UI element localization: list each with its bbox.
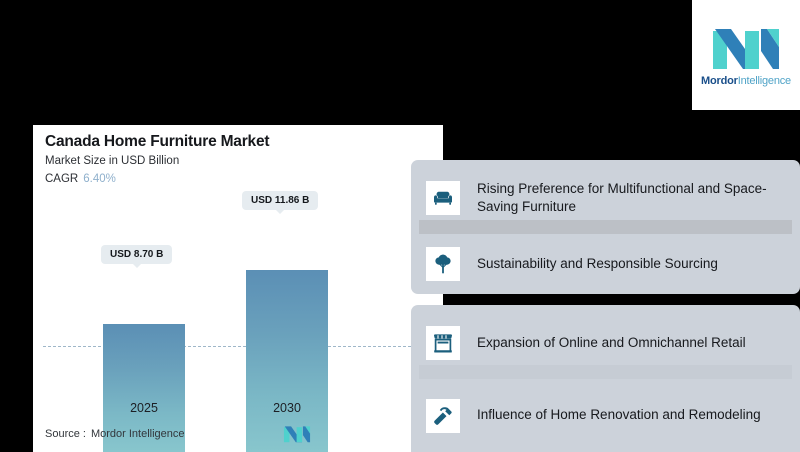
hammer-icon: [426, 399, 460, 433]
value-label-2030: USD 11.86 B: [242, 191, 318, 210]
driver-item-label: Sustainability and Responsible Sourcing: [477, 255, 718, 273]
driver-group-1: Rising Preference for Multifunctional an…: [411, 160, 800, 294]
brand-logo: MordorIntelligence: [692, 0, 800, 110]
driver-item-label: Expansion of Online and Omnichannel Reta…: [477, 334, 746, 352]
brand-wordmark: MordorIntelligence: [701, 76, 791, 87]
market-drivers-panel: Rising Preference for Multifunctional an…: [411, 160, 800, 452]
cagr-value: 6.40%: [83, 173, 116, 185]
driver-item-home-renovation[interactable]: Influence of Home Renovation and Remodel…: [411, 379, 800, 452]
driver-group-2: Expansion of Online and Omnichannel Reta…: [411, 305, 800, 452]
driver-item-label: Influence of Home Renovation and Remodel…: [477, 406, 761, 424]
source-mordor-m-logo-icon: [283, 424, 311, 443]
source-label: Source :: [45, 428, 86, 440]
brand-wordmark-light: Intelligence: [738, 75, 791, 87]
cagr-label: CAGR: [45, 173, 78, 185]
brand-wordmark-bold: Mordor: [701, 75, 738, 87]
driver-item-online-omnichannel-retail[interactable]: Expansion of Online and Omnichannel Reta…: [411, 307, 800, 379]
driver-item-multifunctional-furniture[interactable]: Rising Preference for Multifunctional an…: [411, 162, 800, 234]
reference-dashed-line: [43, 346, 431, 347]
source-name: Mordor Intelligence: [91, 428, 185, 440]
value-label-2025: USD 8.70 B: [101, 245, 172, 264]
chart-subtitle: Market Size in USD Billion: [45, 155, 179, 167]
cagr-row: CAGR6.40%: [45, 173, 116, 185]
x-axis-tick-2030: 2030: [246, 401, 328, 415]
page-title: Canada Home Furniture Market: [45, 133, 269, 151]
chart-plot-area: USD 8.70 B USD 11.86 B 2025 2030: [33, 203, 443, 452]
x-axis-tick-2025: 2025: [103, 401, 185, 415]
couch-icon: [426, 181, 460, 215]
tree-icon: [426, 247, 460, 281]
chart-source: Source :Mordor Intelligence: [45, 428, 185, 440]
storefront-icon: [426, 326, 460, 360]
chart-card: Canada Home Furniture Market Market Size…: [33, 125, 443, 452]
driver-item-label: Rising Preference for Multifunctional an…: [477, 180, 788, 216]
mordor-m-logo-icon: [711, 23, 781, 71]
driver-item-sustainability[interactable]: Sustainability and Responsible Sourcing: [411, 234, 800, 294]
